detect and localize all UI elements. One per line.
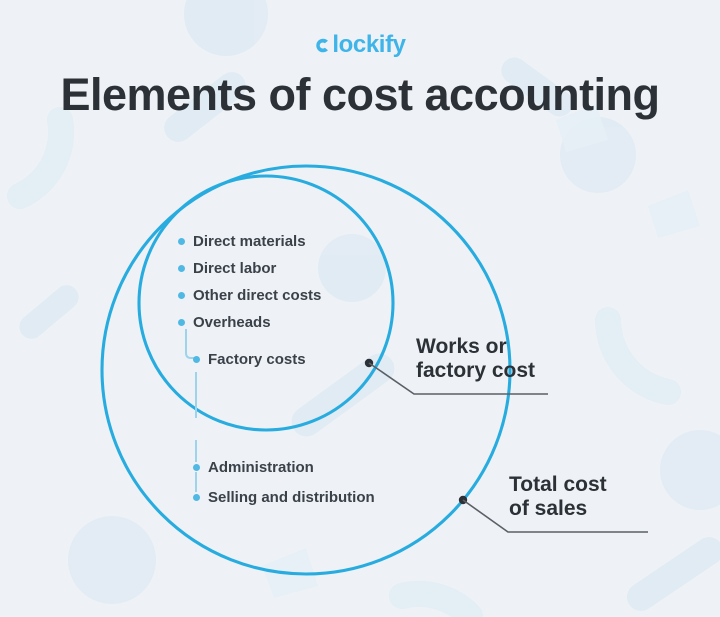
- callout-line-2: of sales: [509, 497, 607, 521]
- bullet-dot-icon: [178, 265, 185, 272]
- bullet-dot-icon: [193, 356, 200, 363]
- bullet-dot-icon: [193, 464, 200, 471]
- bullet-dot-icon: [193, 494, 200, 501]
- bullet-dot-icon: [178, 292, 185, 299]
- list-item-label: Direct labor: [193, 261, 276, 276]
- list-item-selling-and-distribution: Selling and distribution: [193, 490, 375, 505]
- cost-accounting-diagram: [0, 0, 720, 617]
- callout-total-cost-of-sales: Total cost of sales: [509, 473, 607, 520]
- list-item-label: Selling and distribution: [208, 490, 375, 505]
- list-item-label: Overheads: [193, 315, 271, 330]
- list-item-overheads: Overheads: [178, 315, 271, 330]
- list-item-label: Factory costs: [208, 352, 306, 367]
- bullet-dot-icon: [178, 238, 185, 245]
- list-item-direct-labor: Direct labor: [178, 261, 276, 276]
- callout-line-2: factory cost: [416, 359, 535, 383]
- callout-works-or-factory-cost: Works or factory cost: [416, 335, 535, 382]
- list-item-administration: Administration: [193, 460, 314, 475]
- bullet-dot-icon: [178, 319, 185, 326]
- infographic-canvas: lockify Elements of cost accounting Dire…: [0, 0, 720, 617]
- list-item-direct-materials: Direct materials: [178, 234, 306, 249]
- callout-line-1: Total cost: [509, 473, 607, 497]
- list-item-label: Administration: [208, 460, 314, 475]
- list-item-label: Direct materials: [193, 234, 306, 249]
- list-item-label: Other direct costs: [193, 288, 321, 303]
- list-item-other-direct-costs: Other direct costs: [178, 288, 321, 303]
- list-item-factory-costs: Factory costs: [193, 352, 306, 367]
- callout-line-1: Works or: [416, 335, 535, 359]
